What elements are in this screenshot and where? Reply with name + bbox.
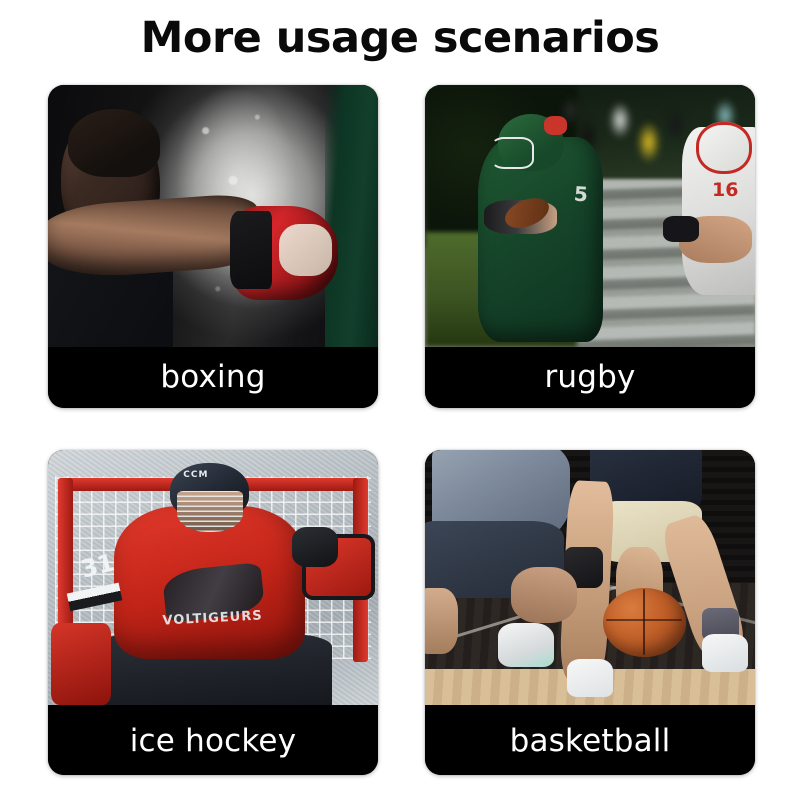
basketball-illustration — [425, 450, 755, 705]
goalie-left-pad — [51, 623, 110, 705]
scenario-card-boxing[interactable]: boxing — [48, 85, 378, 408]
helmet-cage — [177, 491, 243, 532]
opponent-jersey-number: 16 — [712, 179, 738, 201]
jersey-number: 5 — [573, 181, 589, 206]
scenario-card-basketball[interactable]: basketball — [425, 450, 755, 775]
defender-arm — [511, 567, 577, 623]
dribbler-shoe-right — [702, 634, 748, 672]
usage-scenarios-page: More usage scenarios boxing — [0, 0, 800, 800]
basketball-photo — [425, 450, 755, 705]
facemask — [491, 137, 534, 168]
dribbler-shoe-left — [567, 659, 613, 697]
card-caption-ice-hockey: ice hockey — [48, 707, 378, 775]
defender-leg — [425, 588, 458, 654]
rugby-photo: 5 16 — [425, 85, 755, 347]
basketball — [603, 588, 686, 657]
helmet-brand-label: CCM — [183, 470, 208, 480]
scenario-card-ice-hockey[interactable]: VOLTIGEURS 31 3 CCM ice hockey — [48, 450, 378, 775]
boxing-glove-pad — [279, 224, 332, 276]
scenario-card-grid: boxing 5 — [48, 85, 755, 775]
card-caption-rugby: rugby — [425, 347, 755, 408]
rugby-illustration: 5 16 — [425, 85, 755, 347]
boxing-photo — [48, 85, 378, 347]
ice-hockey-illustration: VOLTIGEURS 31 3 CCM — [48, 450, 378, 705]
page-title: More usage scenarios — [0, 14, 800, 63]
defender-shoe — [498, 623, 554, 666]
opponent-glove — [663, 216, 699, 242]
ice-hockey-photo: VOLTIGEURS 31 3 CCM — [48, 450, 378, 705]
goalie-glove — [292, 527, 338, 568]
boxer-hair — [68, 109, 160, 177]
card-caption-boxing: boxing — [48, 347, 378, 408]
green-backdrop-panel — [325, 85, 378, 347]
boxing-illustration — [48, 85, 378, 347]
scenario-card-rugby[interactable]: 5 16 rugby — [425, 85, 755, 408]
helmet-decal — [544, 116, 567, 134]
card-caption-basketball: basketball — [425, 707, 755, 775]
opponent-helmet — [696, 122, 752, 174]
boxing-glove-cuff — [230, 211, 273, 290]
